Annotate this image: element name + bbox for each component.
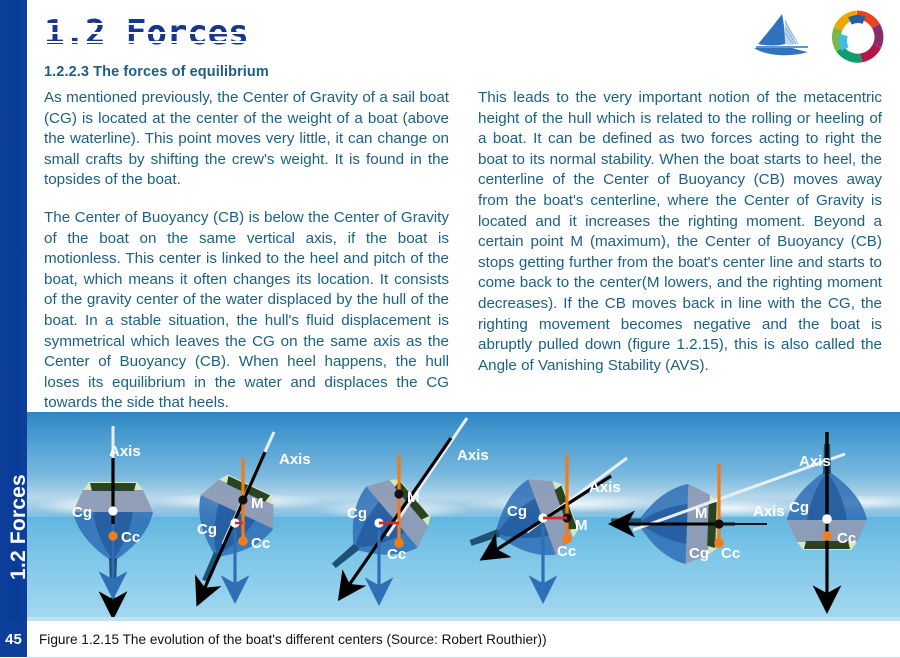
m-label: M [575, 517, 588, 534]
figure-image: Axis Cg Cc M Axis [27, 412, 900, 621]
axis-label: Axis [457, 447, 489, 464]
page-title-text: 1.2 Forces [44, 13, 249, 53]
cc-label: Cc [557, 543, 576, 560]
figure-caption: Figure 1.2.15 The evolution of the boat'… [27, 621, 900, 658]
m-label: M [251, 495, 264, 512]
cg-label: Cg [507, 503, 527, 520]
cc-label: Cc [721, 545, 740, 562]
cc-label: Cc [251, 535, 270, 552]
cg-label: Cg [347, 505, 367, 522]
axis-label: Axis [279, 451, 311, 468]
sailboat-logo-icon [752, 11, 814, 63]
axis-label: Axis [753, 503, 785, 520]
cc-label: Cc [121, 529, 140, 546]
cc-label: Cc [387, 546, 406, 563]
cg-label: Cg [689, 545, 709, 562]
cg-label: Cg [72, 504, 92, 521]
document-page: 1.2 Forces 45 1.2 Forces [0, 0, 900, 657]
boat-diagram-svg: Axis Cg Cc M Axis [27, 412, 900, 621]
cg-label: Cg [197, 521, 217, 538]
figure-caption-text: Figure 1.2.15 The evolution of the boat'… [39, 632, 547, 647]
section-heading: 1.2.2.3 The forces of equilibrium [44, 64, 269, 80]
logo-group [752, 8, 886, 66]
paragraph: This leads to the very important notion … [478, 88, 882, 376]
cc-label: Cc [837, 530, 856, 547]
right-text-column: This leads to the very important notion … [478, 88, 882, 393]
boat-1-upright: Axis Cg Cc [72, 426, 153, 604]
axis-label: Axis [109, 443, 141, 460]
axis-label: Axis [799, 453, 831, 470]
page-title: 1.2 Forces [44, 14, 249, 50]
m-label: M [407, 489, 420, 506]
left-blue-spine: 1.2 Forces [0, 0, 27, 657]
color-ring-logo-icon [828, 9, 886, 65]
boat-4-heavy-heel [457, 469, 584, 580]
page-number: 45 [0, 621, 27, 657]
paragraph: As mentioned previously, the Center of G… [44, 88, 449, 191]
m-label: M [695, 505, 708, 522]
left-text-column: As mentioned previously, the Center of G… [44, 88, 449, 431]
axis-label: Axis [589, 479, 621, 496]
cg-label: Cg [789, 499, 809, 516]
paragraph: The Center of Buoyancy (CB) is below the… [44, 208, 449, 414]
